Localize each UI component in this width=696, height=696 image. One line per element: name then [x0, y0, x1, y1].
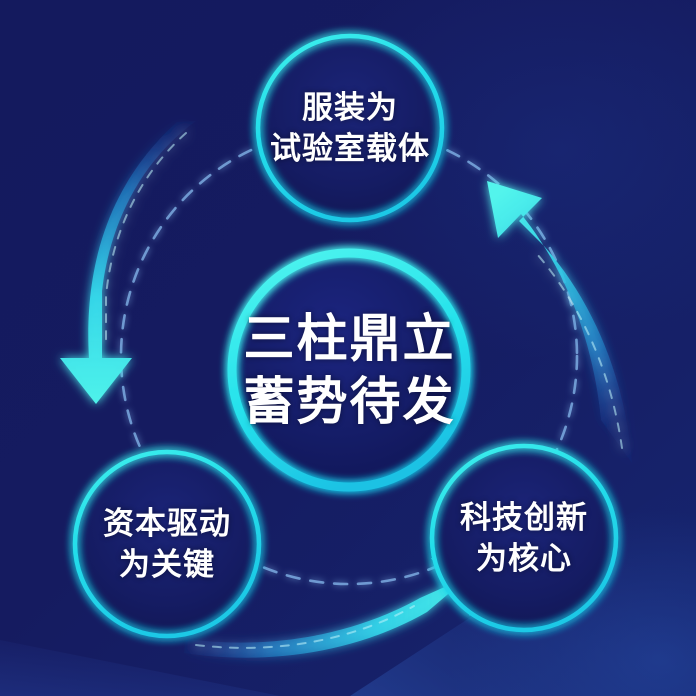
node-tech-innovation[interactable]	[430, 444, 618, 632]
node-capital-driven[interactable]	[73, 450, 261, 638]
node-apparel-lab[interactable]	[256, 34, 444, 222]
diagram-layer	[0, 0, 696, 696]
arrow-top-to-bottom-left	[60, 121, 196, 404]
arrow-bottom-right-to-top	[487, 181, 632, 463]
center-node[interactable]	[228, 249, 470, 491]
infographic-canvas: 服装为 试验室载体 资本驱动 为关键 科技创新 为核心 三柱鼎立 蓄势待发	[0, 0, 696, 696]
